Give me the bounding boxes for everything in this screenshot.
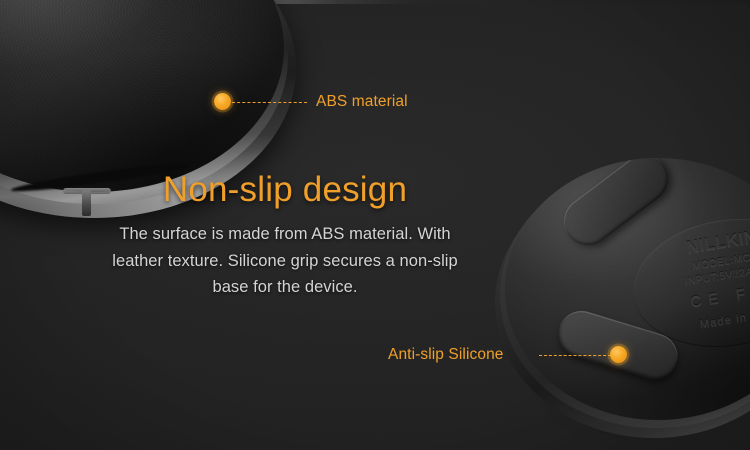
- callout-dot-anti-slip-silicone[interactable]: [610, 346, 627, 363]
- product-feature-banner: DISCOVER INNOVATION NILLKIN MODEL:MC0 IN…: [0, 0, 750, 450]
- callout-dash-anti-slip-silicone: [539, 355, 611, 356]
- left-device-leather-surface: DISCOVER INNOVATION: [0, 0, 284, 192]
- body-line-2: leather texture. Silicone grip secures a…: [70, 248, 500, 275]
- body-line-3: base for the device.: [70, 274, 500, 301]
- callout-label-anti-slip-silicone: Anti-slip Silicone: [388, 346, 504, 364]
- callout-label-abs-material: ABS material: [316, 93, 408, 111]
- feature-copy-block: Non-slip design The surface is made from…: [70, 172, 500, 301]
- callout-dot-abs-material[interactable]: [214, 93, 231, 110]
- headline: Non-slip design: [70, 172, 500, 207]
- body-line-1: The surface is made from ABS material. W…: [70, 221, 500, 248]
- right-device-bottom-view: NILLKIN MODEL:MC0 INPUT:5V⍰2A 9V CE FC M…: [495, 158, 750, 450]
- left-device-lighting: [0, 0, 284, 192]
- right-device-base-surface: NILLKIN MODEL:MC0 INPUT:5V⍰2A 9V CE FC M…: [505, 158, 750, 420]
- callout-dash-abs-material: [232, 102, 307, 103]
